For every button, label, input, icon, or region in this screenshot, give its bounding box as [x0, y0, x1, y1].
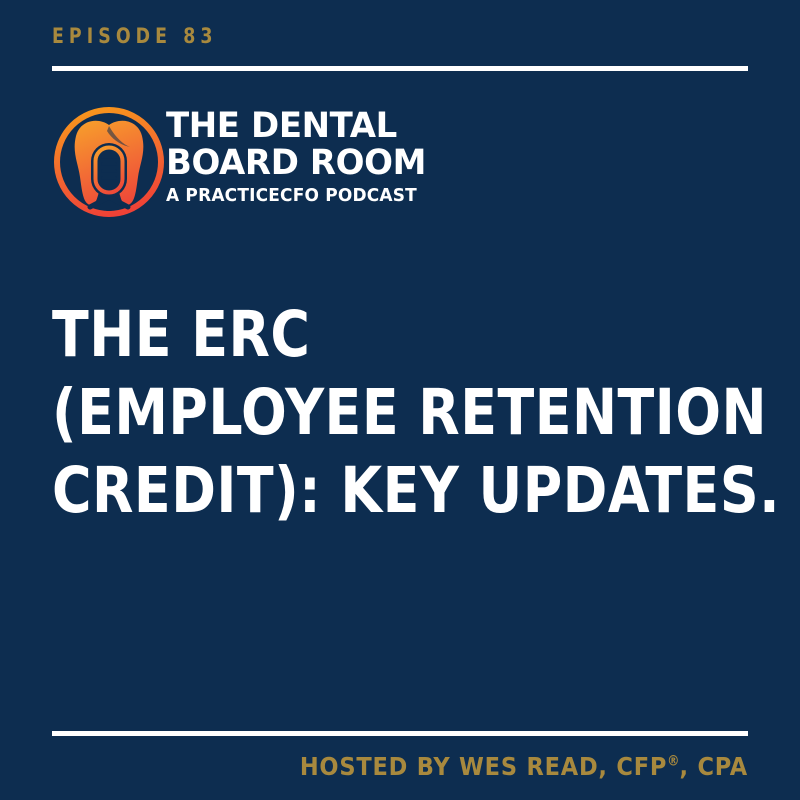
brand-title-line-1: THE DENTAL: [166, 108, 457, 145]
episode-title-line-2: (EMPLOYEE RETENTION: [52, 374, 717, 452]
brand-logo-text: THE DENTAL BOARD ROOM A PRACTICECFO PODC…: [166, 108, 466, 207]
divider-bottom: [52, 731, 748, 736]
host-credit-suffix: , CPA: [680, 752, 748, 781]
brand-subtitle: A PRACTICECFO PODCAST: [166, 185, 457, 207]
registered-trademark-icon: ®: [667, 754, 679, 770]
brand-title-line-2: BOARD ROOM: [166, 145, 457, 182]
brand-logo-lockup: THE DENTAL BOARD ROOM A PRACTICECFO PODC…: [50, 103, 470, 221]
podcast-cover-art: EPISODE 83: [0, 0, 800, 800]
host-credit-prefix: HOSTED BY WES READ, CFP: [300, 752, 667, 781]
episode-title: THE ERC (EMPLOYEE RETENTION CREDIT): KEY…: [52, 296, 752, 530]
episode-title-line-1: THE ERC: [52, 296, 717, 374]
divider-top: [52, 66, 748, 71]
host-credit: HOSTED BY WES READ, CFP®, CPA: [52, 753, 748, 781]
tooth-microphone-logo-icon: [50, 103, 168, 221]
episode-label: EPISODE 83: [52, 26, 218, 47]
episode-title-line-3: CREDIT): KEY UPDATES.: [52, 452, 717, 530]
